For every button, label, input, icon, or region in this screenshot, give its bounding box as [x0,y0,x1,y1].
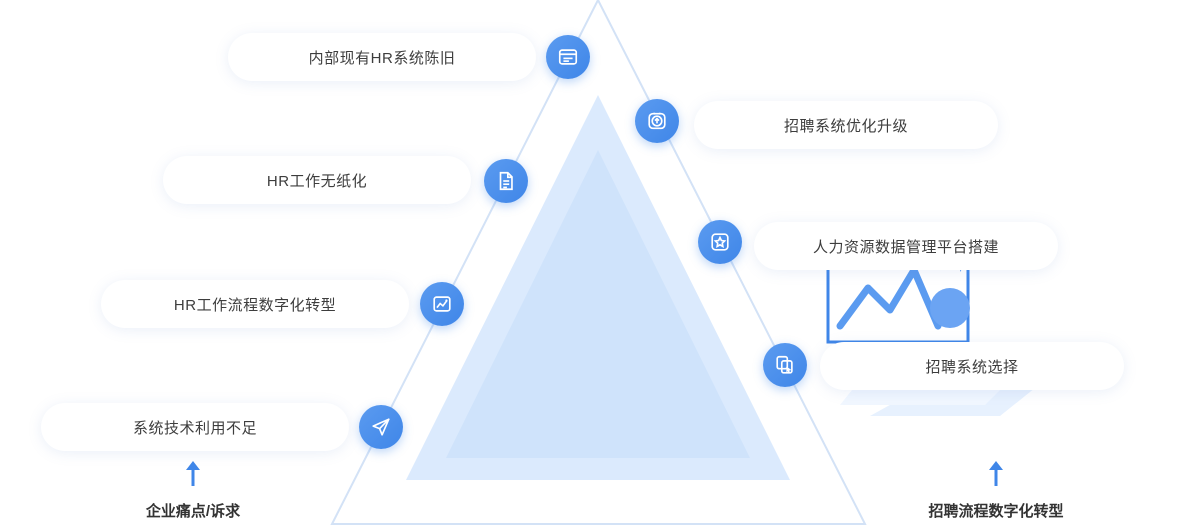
image-chart-icon[interactable] [420,282,464,326]
pill-right-3[interactable]: 招聘系统选择 [820,342,1124,390]
document-icon[interactable] [484,159,528,203]
copy-cursor-icon[interactable] [763,343,807,387]
pill-right-3-label: 招聘系统选择 [925,356,1018,377]
pill-right-1[interactable]: 招聘系统优化升级 [694,101,998,149]
pill-right-2[interactable]: 人力资源数据管理平台搭建 [754,222,1058,270]
diagram-canvas: 内部现有HR系统陈旧 HR工作无纸化 HR工作流程数字化转型 系统技术 [0,0,1200,529]
pill-left-2-label: HR工作无纸化 [267,170,367,191]
pill-right-1-label: 招聘系统优化升级 [784,115,908,136]
pill-left-3-label: HR工作流程数字化转型 [174,294,336,315]
pill-left-4[interactable]: 系统技术利用不足 [41,403,349,451]
pill-left-1[interactable]: 内部现有HR系统陈旧 [228,33,536,81]
right-axis-label: 招聘流程数字化转型 [871,500,1121,521]
right-axis-arrow-icon [986,461,1006,487]
badge-star-icon[interactable] [698,220,742,264]
pill-left-1-label: 内部现有HR系统陈旧 [309,47,456,68]
pill-right-2-label: 人力资源数据管理平台搭建 [813,236,999,257]
left-axis-arrow-icon [183,461,203,487]
browser-window-icon[interactable] [546,35,590,79]
pill-left-4-label: 系统技术利用不足 [133,417,257,438]
send-paper-plane-icon[interactable] [359,405,403,449]
pill-left-2[interactable]: HR工作无纸化 [163,156,471,204]
left-axis-label: 企业痛点/诉求 [93,500,293,521]
pill-left-3[interactable]: HR工作流程数字化转型 [101,280,409,328]
upload-circle-icon[interactable] [635,99,679,143]
